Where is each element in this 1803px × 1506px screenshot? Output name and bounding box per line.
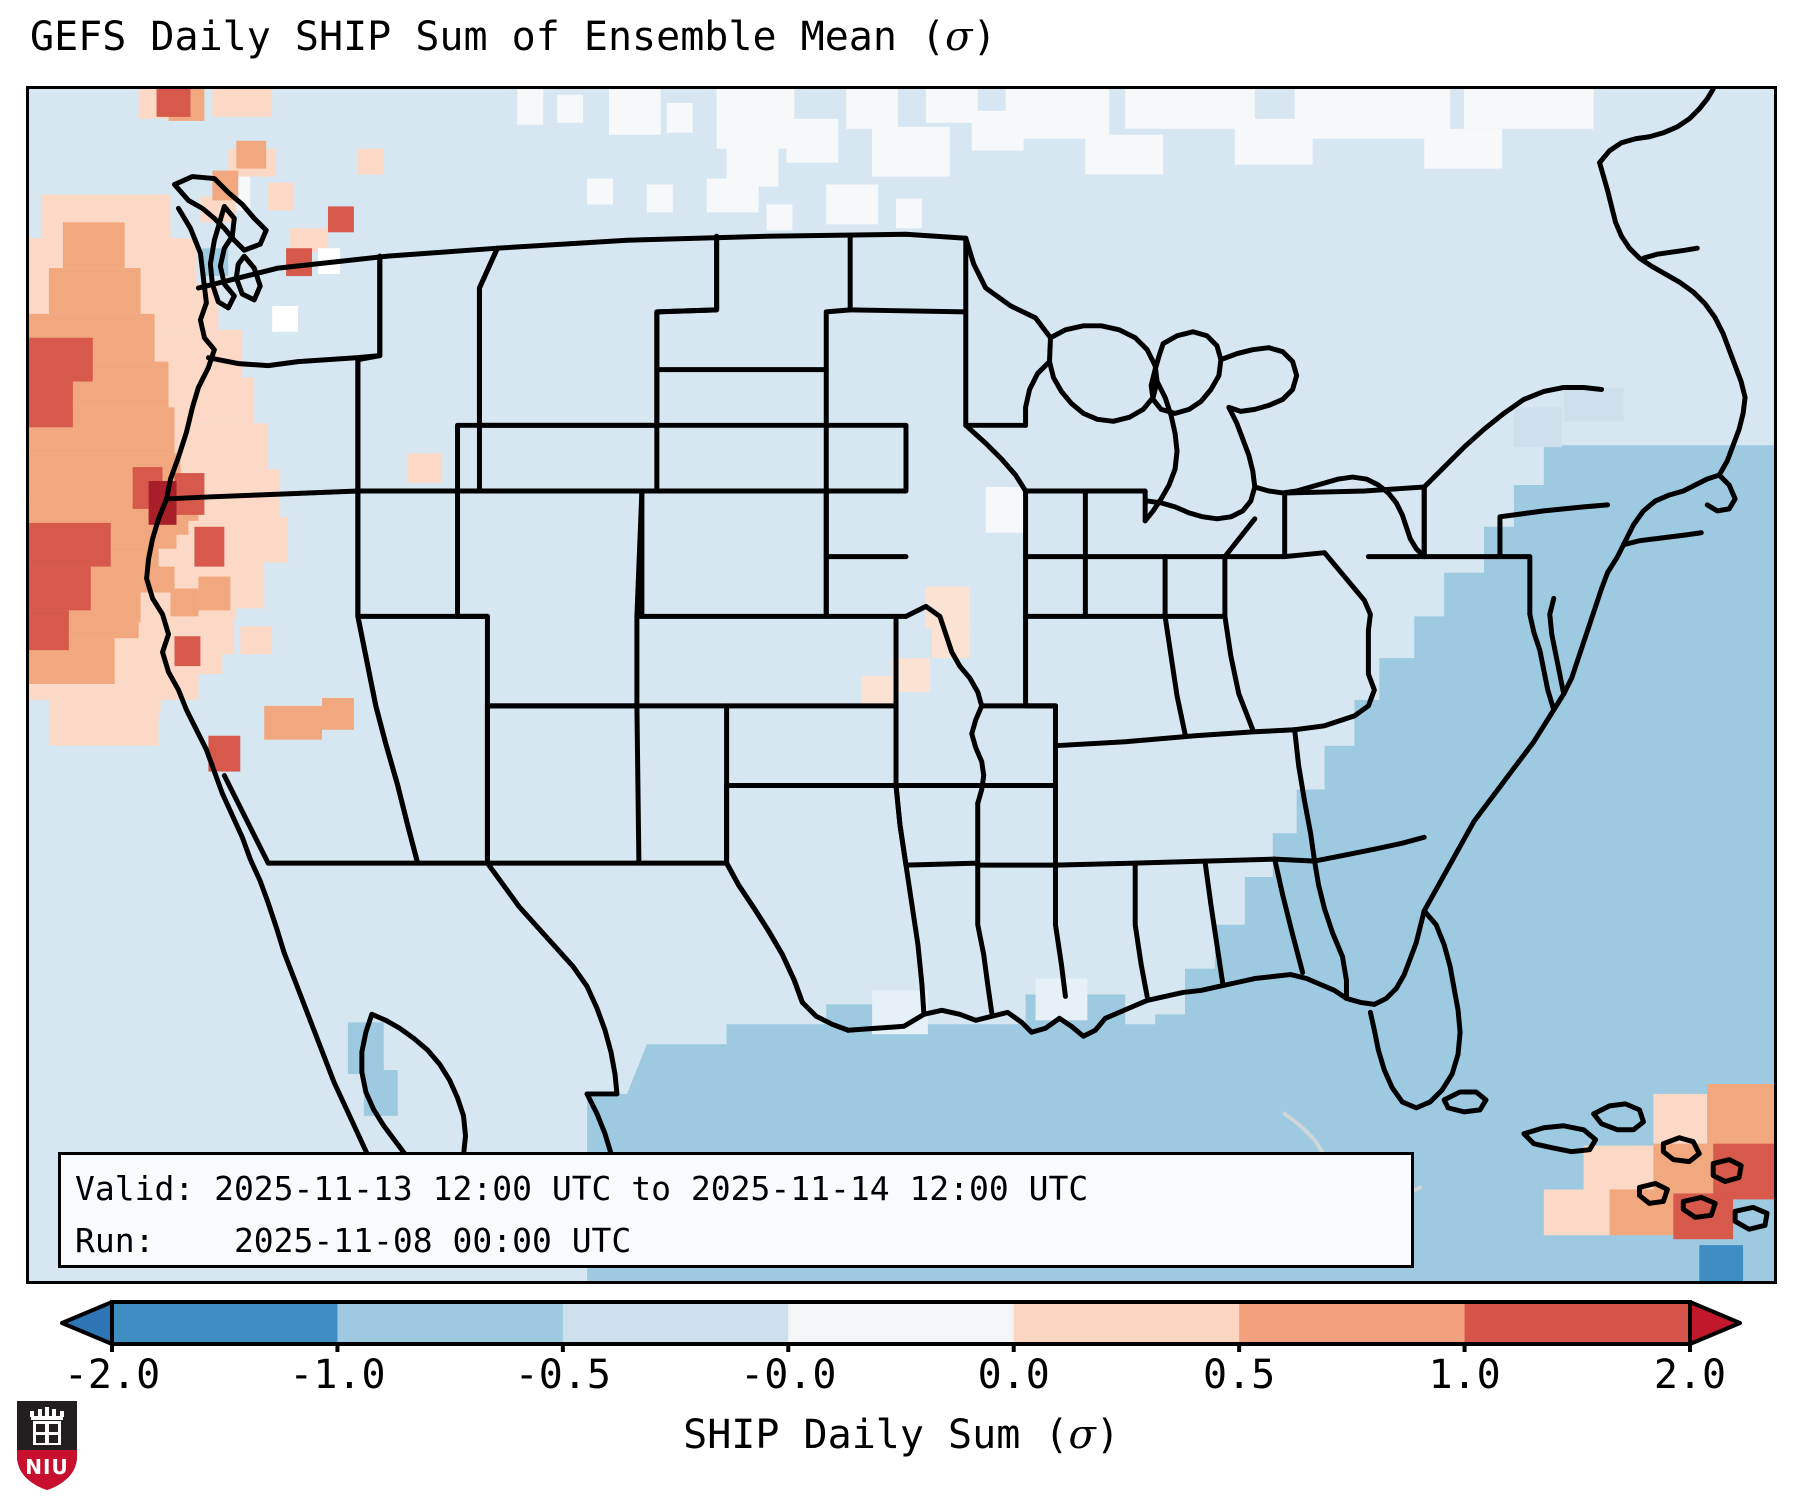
niu-logo-text: NIU — [25, 1455, 68, 1479]
info-run-line: Run: 2025-11-08 00:00 UTC — [75, 1215, 1397, 1267]
niu-logo: NIU — [14, 1398, 80, 1492]
colorbar-tick-label-6: 1.0 — [1428, 1352, 1500, 1398]
colorbar[interactable] — [0, 1292, 1803, 1352]
colorbar-segment-1 — [337, 1302, 563, 1344]
map-plot-area[interactable] — [26, 86, 1777, 1284]
page-title: GEFS Daily SHIP Sum of Ensemble Mean (σ) — [30, 14, 997, 60]
colorbar-segment-4 — [1014, 1302, 1240, 1344]
colorbar-axis-label: SHIP Daily Sum (σ) — [0, 1412, 1803, 1458]
colorbar-segment-6 — [1465, 1302, 1691, 1344]
colorbar-segment-5 — [1239, 1302, 1465, 1344]
sigma-symbol-title: σ — [945, 14, 972, 60]
colorbar-segment-0 — [112, 1302, 338, 1344]
colorbar-label-suffix: ) — [1096, 1412, 1120, 1458]
info-valid-line: Valid: 2025-11-13 12:00 UTC to 2025-11-1… — [75, 1163, 1397, 1215]
colorbar-over-arrow — [1690, 1302, 1740, 1344]
colorbar-tick-label-4: 0.0 — [978, 1352, 1050, 1398]
colorbar-segment-3 — [788, 1302, 1014, 1344]
colorbar-segment-2 — [563, 1302, 789, 1344]
colorbar-tick-label-1: -1.0 — [289, 1352, 385, 1398]
map-canvas — [29, 89, 1774, 1281]
colorbar-tick-label-7: 2.0 — [1654, 1352, 1726, 1398]
page-title-suffix: ) — [972, 14, 996, 60]
sigma-symbol-colorbar: σ — [1068, 1412, 1095, 1458]
colorbar-tick-label-3: -0.0 — [740, 1352, 836, 1398]
colorbar-tick-label-2: -0.5 — [515, 1352, 611, 1398]
colorbar-segments — [112, 1302, 1691, 1344]
colorbar-tick-label-0: -2.0 — [64, 1352, 160, 1398]
colorbar-label-prefix: SHIP Daily Sum ( — [683, 1412, 1068, 1458]
colorbar-tick-labels: -2.0-1.0-0.5-0.00.00.51.02.0 — [0, 1352, 1803, 1408]
info-box: Valid: 2025-11-13 12:00 UTC to 2025-11-1… — [58, 1152, 1414, 1268]
page-title-text: GEFS Daily SHIP Sum of Ensemble Mean ( — [30, 14, 945, 60]
colorbar-tick-label-5: 0.5 — [1203, 1352, 1275, 1398]
colorbar-under-arrow — [62, 1302, 112, 1344]
